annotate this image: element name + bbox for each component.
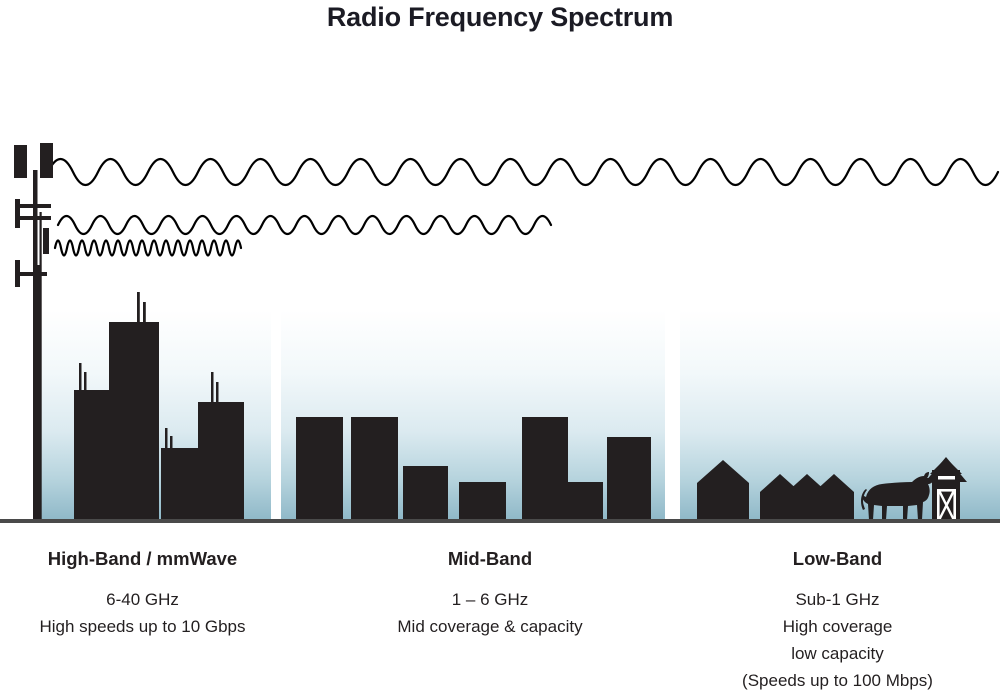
building-high-spire-4a [211,372,214,404]
building-high-4 [198,402,244,520]
band-caption-low-band: Low-Band Sub-1 GHz High coverage low cap… [675,548,1000,694]
building-mid-5 [522,417,568,520]
building-high-spire-2b [143,302,146,326]
infographic-canvas: Radio Frequency Spectrum [0,0,1000,700]
tower-antenna-small-mid [43,228,49,254]
tower-cross-arm-upper [20,204,51,208]
tower-antenna-panel-left [14,145,27,178]
radio-waves [48,159,998,256]
ground-line [0,519,1000,523]
tower-cross-arm-mid [20,216,51,220]
building-mid-1 [296,417,343,520]
band-caption-mid-band: Mid-Band 1 – 6 GHz Mid coverage & capaci… [330,548,650,640]
band-caption-high-band: High-Band / mmWave 6-40 GHz High speeds … [0,548,285,640]
tower-cross-arm-lower [20,272,47,276]
tower-antenna-small-upper [15,199,20,228]
band-line-detail-1: Mid coverage & capacity [330,613,650,640]
band-description-low-band: Sub-1 GHz High coverage low capacity (Sp… [675,586,1000,694]
building-mid-2 [351,417,398,520]
building-mid-4 [459,482,506,520]
wave-mid-band [58,216,551,234]
tower-mast-main [37,265,42,520]
band-line-detail-3: (Speeds up to 100 Mbps) [675,667,1000,694]
building-high-2 [109,322,159,520]
building-high-spire-1a [79,363,82,393]
building-high-spire-4b [216,382,219,406]
building-high-spire-3a [165,428,168,450]
tower-antenna-small-lower [15,260,20,287]
band-line-detail-2: low capacity [675,640,1000,667]
building-mid-7 [607,437,651,520]
band-line-frequency: 1 – 6 GHz [330,586,650,613]
building-high-1 [74,390,114,520]
building-mid-3 [403,466,448,520]
band-description-mid-band: 1 – 6 GHz Mid coverage & capacity [330,586,650,640]
band-description-high-band: 6-40 GHz High speeds up to 10 Gbps [0,586,285,640]
band-line-detail-1: High speeds up to 10 Gbps [0,613,285,640]
building-mid-6 [568,482,603,520]
tower-antenna-panel-right [40,143,53,178]
building-high-spire-2a [137,292,140,324]
band-title-low-band: Low-Band [675,548,1000,570]
band-title-high-band: High-Band / mmWave [0,548,285,570]
band-line-frequency: Sub-1 GHz [675,586,1000,613]
wave-low-band [48,159,998,185]
barn-loft-window [938,476,955,480]
band-line-detail-1: High coverage [675,613,1000,640]
building-high-spire-1b [84,372,87,394]
building-high-spire-3b [170,436,173,451]
band-title-mid-band: Mid-Band [330,548,650,570]
building-high-3 [161,448,201,520]
band-line-frequency: 6-40 GHz [0,586,285,613]
wave-high-band [55,241,241,256]
